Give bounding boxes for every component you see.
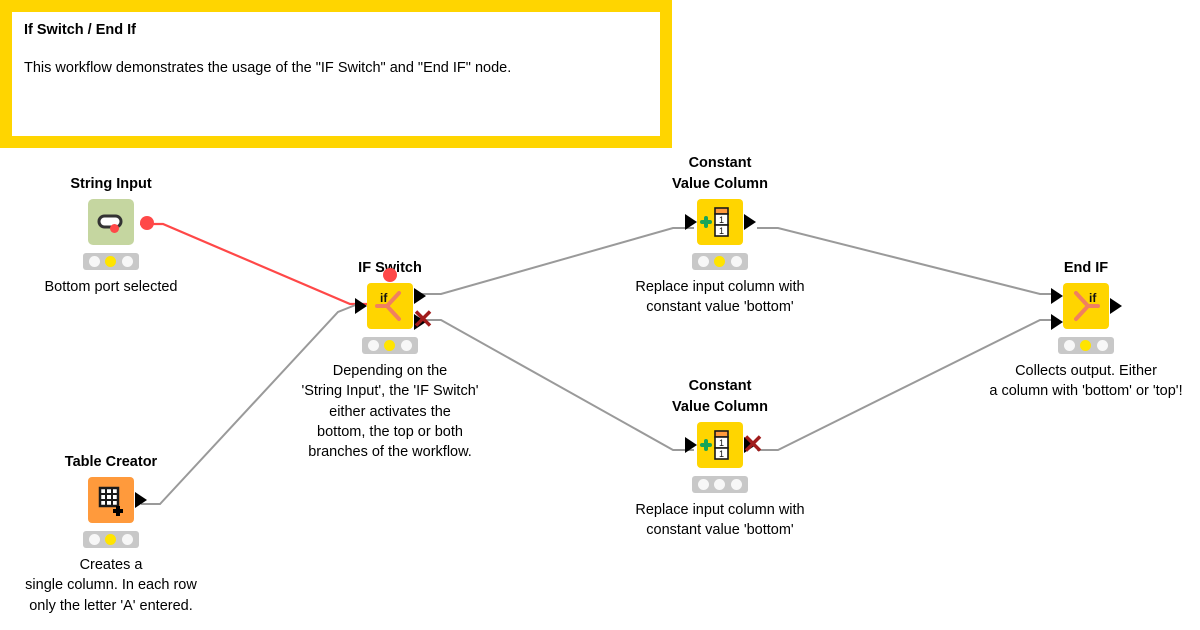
status-lamp-idle bbox=[89, 256, 100, 267]
status-lamp-idle bbox=[1064, 340, 1075, 351]
output-port-data[interactable] bbox=[744, 214, 756, 230]
node-caption: Depending on the 'String Input', the 'IF… bbox=[260, 361, 520, 462]
status-lamp-idle bbox=[698, 479, 709, 490]
input-port-data[interactable] bbox=[685, 437, 697, 453]
node-caption: Replace input column with constant value… bbox=[590, 277, 850, 318]
node-body[interactable]: if bbox=[1006, 283, 1166, 331]
status-lamp-executed bbox=[401, 340, 412, 351]
node-status-constant-value-column-bottom bbox=[692, 476, 748, 493]
inactive-branch-marker: ✕ bbox=[410, 306, 436, 332]
annotation-title: If Switch / End If bbox=[24, 22, 648, 39]
svg-text:if: if bbox=[1089, 291, 1097, 305]
svg-text:1: 1 bbox=[719, 226, 724, 236]
output-port-data[interactable] bbox=[1110, 298, 1122, 314]
annotation-body: This workflow demonstrates the usage of … bbox=[24, 59, 648, 78]
node-table-creator[interactable]: Table Creator Creates a single column. I… bbox=[31, 452, 191, 616]
node-title: String Input bbox=[31, 174, 191, 195]
node-body[interactable]: if ✕ bbox=[310, 283, 470, 331]
svg-text:1: 1 bbox=[719, 449, 724, 459]
node-status-constant-value-column-top bbox=[692, 253, 748, 270]
status-lamp-executed bbox=[122, 256, 133, 267]
output-port-flow-variable[interactable] bbox=[140, 216, 154, 230]
status-lamp-executed bbox=[122, 534, 133, 545]
constant-value-column-icon[interactable]: 1 1 bbox=[697, 422, 743, 468]
node-string-input[interactable]: String Input Bottom port selected bbox=[31, 174, 191, 297]
node-title: Table Creator bbox=[31, 452, 191, 473]
input-port-top[interactable] bbox=[1051, 288, 1063, 304]
node-caption: Replace input column with constant value… bbox=[590, 500, 850, 541]
status-lamp-configured bbox=[105, 256, 116, 267]
input-port-data[interactable] bbox=[685, 214, 697, 230]
node-if-switch[interactable]: IF Switch if ✕ Depending on the 'String … bbox=[310, 258, 470, 463]
constant-value-column-icon[interactable]: 1 1 bbox=[697, 199, 743, 245]
inactive-branch-marker: ✕ bbox=[740, 431, 766, 457]
node-status-end-if bbox=[1058, 337, 1114, 354]
node-end-if[interactable]: End IF if Collects output. Either a colu… bbox=[1006, 258, 1166, 402]
node-caption: Collects output. Either a column with 'b… bbox=[956, 361, 1200, 402]
status-lamp-configured bbox=[1080, 340, 1091, 351]
status-lamp-configured bbox=[714, 479, 725, 490]
node-title: Constant Value Column bbox=[640, 153, 800, 195]
input-port-bottom[interactable] bbox=[1051, 314, 1063, 330]
status-lamp-idle bbox=[368, 340, 379, 351]
status-lamp-configured bbox=[714, 256, 725, 267]
status-lamp-configured bbox=[105, 534, 116, 545]
workflow-annotation-inner: If Switch / End If This workflow demonst… bbox=[12, 12, 660, 136]
node-body[interactable]: 1 1 ✕ bbox=[640, 422, 800, 470]
status-lamp-idle bbox=[89, 534, 100, 545]
node-status-string-input bbox=[83, 253, 139, 270]
node-status-table-creator bbox=[83, 531, 139, 548]
output-port-data[interactable] bbox=[135, 492, 147, 508]
output-port-top[interactable] bbox=[414, 288, 426, 304]
status-lamp-executed bbox=[731, 479, 742, 490]
status-lamp-configured bbox=[384, 340, 395, 351]
svg-text:if: if bbox=[380, 291, 388, 305]
node-body[interactable] bbox=[31, 199, 191, 247]
input-port-flow-variable[interactable] bbox=[383, 268, 397, 282]
node-status-if-switch bbox=[362, 337, 418, 354]
node-constant-value-column-bottom[interactable]: Constant Value Column 1 1 ✕ Replace inpu… bbox=[640, 376, 800, 541]
svg-text:1: 1 bbox=[719, 438, 724, 448]
svg-text:1: 1 bbox=[719, 215, 724, 225]
node-title: Constant Value Column bbox=[640, 376, 800, 418]
table-creator-icon[interactable] bbox=[88, 477, 134, 523]
node-body[interactable]: 1 1 bbox=[640, 199, 800, 247]
node-caption: Bottom port selected bbox=[0, 277, 241, 297]
status-lamp-executed bbox=[1097, 340, 1108, 351]
status-lamp-executed bbox=[731, 256, 742, 267]
node-caption: Creates a single column. In each row onl… bbox=[0, 555, 241, 616]
node-constant-value-column-top[interactable]: Constant Value Column 1 1 Replace input … bbox=[640, 153, 800, 318]
if-switch-icon[interactable]: if bbox=[367, 283, 413, 329]
workflow-annotation[interactable]: If Switch / End If This workflow demonst… bbox=[0, 0, 672, 148]
status-lamp-idle bbox=[698, 256, 709, 267]
node-body[interactable] bbox=[31, 477, 191, 525]
string-input-icon[interactable] bbox=[88, 199, 134, 245]
input-port-data[interactable] bbox=[355, 298, 367, 314]
end-if-icon[interactable]: if bbox=[1063, 283, 1109, 329]
node-title: End IF bbox=[1006, 258, 1166, 279]
